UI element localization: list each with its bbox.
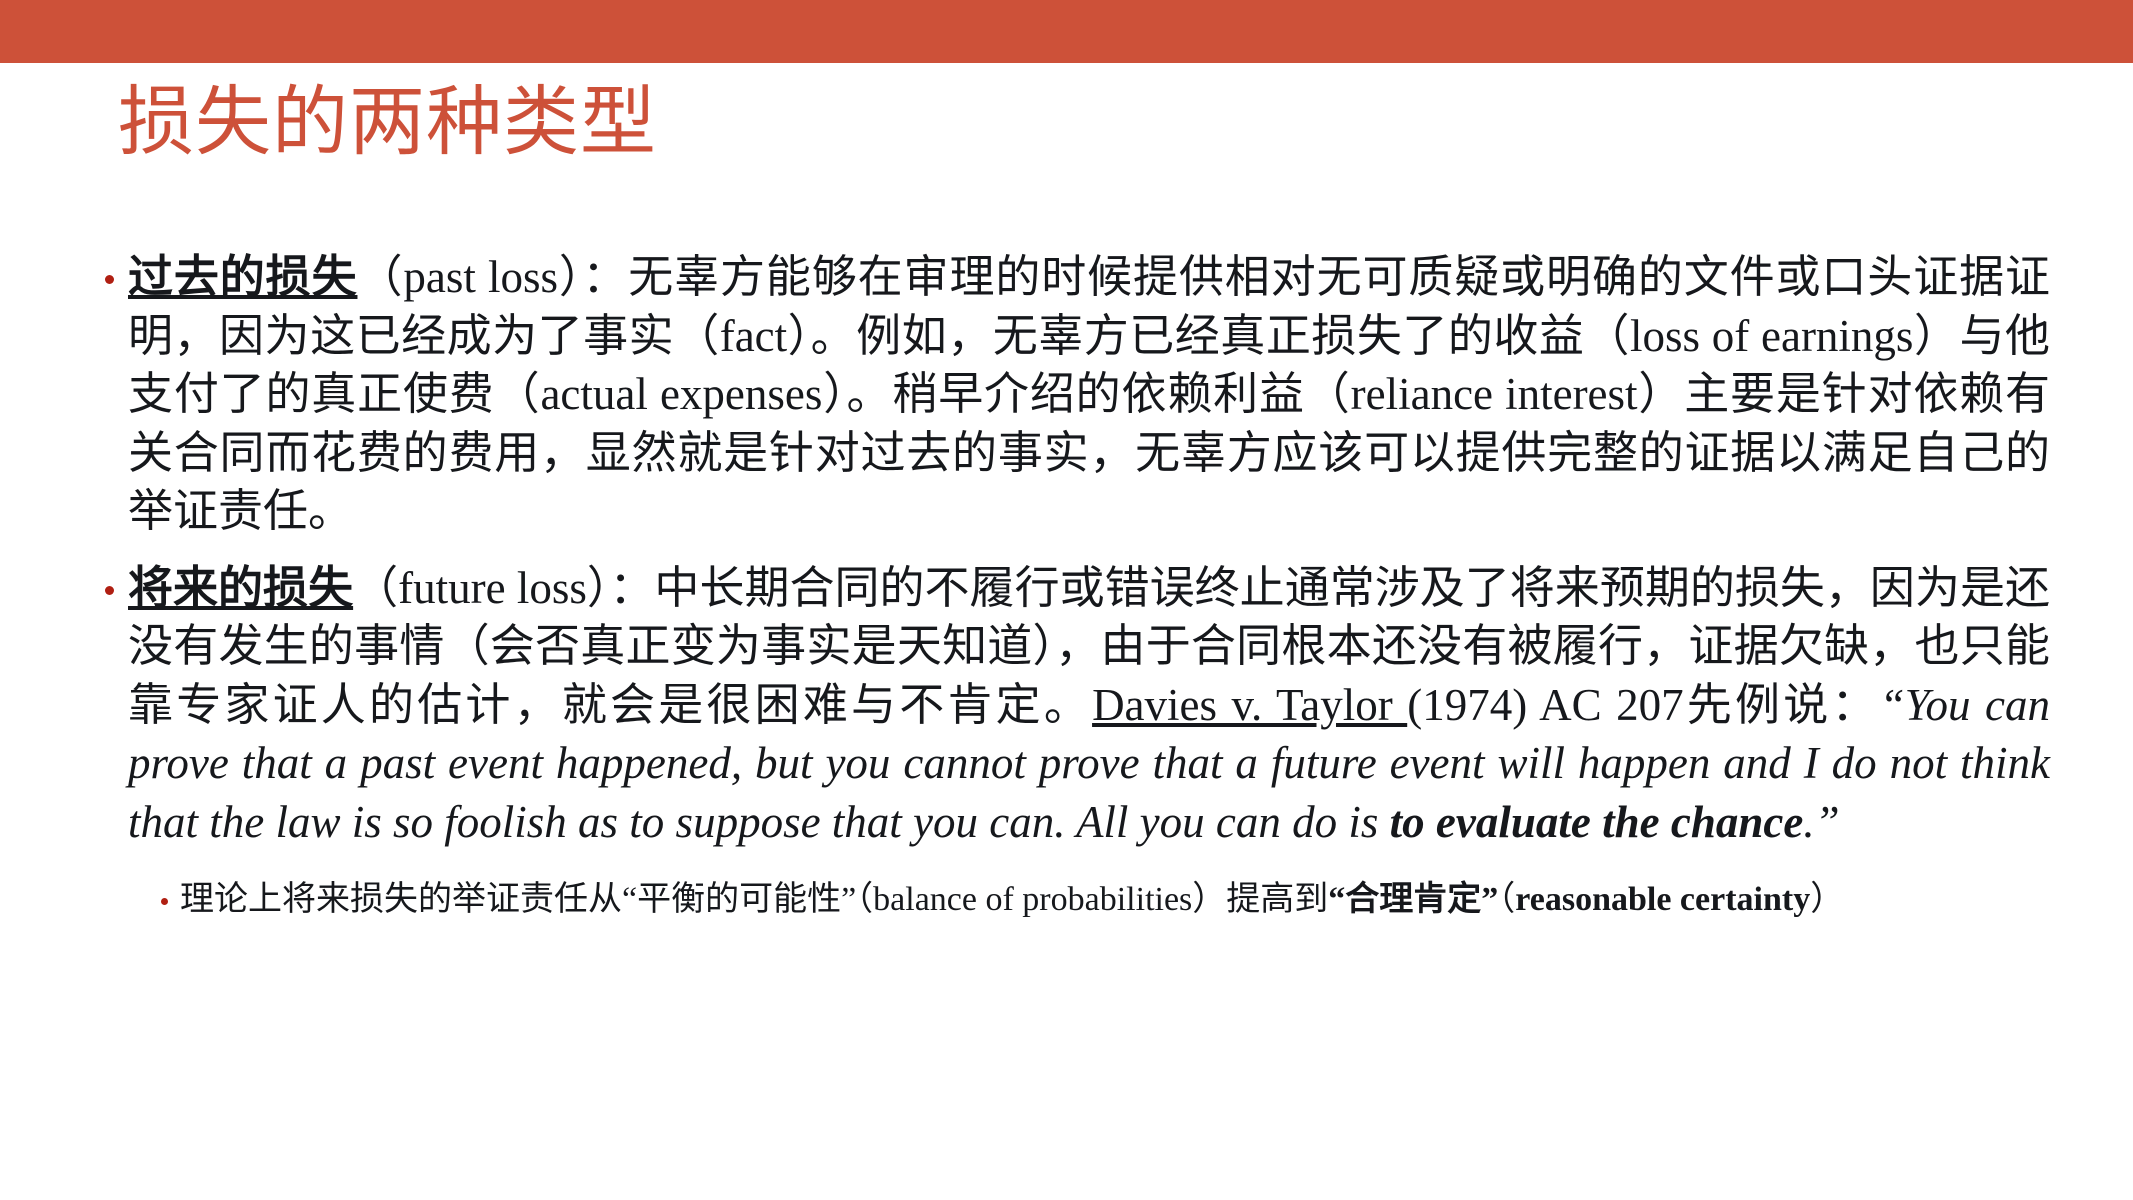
- case-citation-ref: (1974) AC 207先例说：: [1407, 680, 1879, 730]
- quote-emphasis: to evaluate the chance: [1390, 797, 1804, 847]
- term-reasonable-certainty-cn: “合理肯定”: [1328, 881, 1498, 918]
- bullet-past-loss-body: （past loss）：无辜方能够在审理的时候提供相对无可质疑或明确的文件或口头…: [128, 252, 2050, 536]
- bullet-dot-icon: [105, 586, 114, 595]
- top-accent-bar: [0, 0, 2133, 63]
- bullet-dot-icon: [161, 898, 168, 905]
- bullet-past-loss-text: 过去的损失（past loss）：无辜方能够在审理的时候提供相对无可质疑或明确的…: [128, 248, 2050, 541]
- paren-close: ）: [1810, 881, 1844, 918]
- quote-part-2: .”: [1803, 797, 1839, 847]
- term-past-loss-cn: 过去的损失: [128, 252, 357, 302]
- slide-body: 过去的损失（past loss）：无辜方能够在审理的时候提供相对无可质疑或明确的…: [105, 248, 2050, 945]
- slide-canvas: 损失的两种类型 过去的损失（past loss）：无辜方能够在审理的时候提供相对…: [0, 0, 2133, 1200]
- bullet-dot-icon: [105, 275, 114, 284]
- bullet-future-loss: 将来的损失（future loss）：中长期合同的不履行或错误终止通常涉及了将来…: [105, 559, 2050, 852]
- standard-of-proof-lead: 理论上将来损失的举证责任从“平衡的可能性”（balance of probabi…: [180, 881, 1328, 918]
- bullet-past-loss: 过去的损失（past loss）：无辜方能够在审理的时候提供相对无可质疑或明确的…: [105, 248, 2050, 541]
- case-citation-name: Davies v. Taylor: [1092, 680, 1407, 730]
- page-title: 损失的两种类型: [118, 84, 657, 164]
- bullet-standard-of-proof: 理论上将来损失的举证责任从“平衡的可能性”（balance of probabi…: [161, 877, 2050, 923]
- term-future-loss-cn: 将来的损失: [128, 563, 353, 613]
- bullet-standard-of-proof-text: 理论上将来损失的举证责任从“平衡的可能性”（balance of probabi…: [180, 877, 2050, 923]
- term-reasonable-certainty-en: reasonable certainty: [1515, 881, 1810, 918]
- paren-open: （: [1498, 881, 1515, 918]
- bullet-future-loss-text: 将来的损失（future loss）：中长期合同的不履行或错误终止通常涉及了将来…: [128, 559, 2050, 852]
